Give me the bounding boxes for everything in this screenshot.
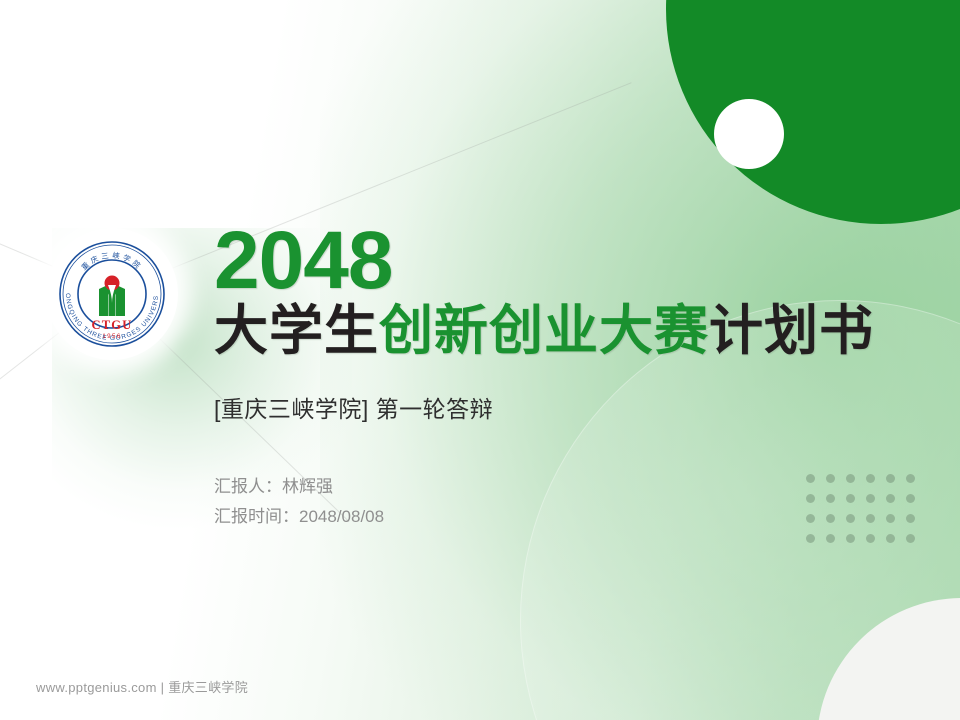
year-heading: 2048 [214, 222, 914, 300]
main-title-tail: 计划书 [709, 301, 874, 361]
main-title-lead: 大学生 [214, 301, 379, 361]
decorative-white-dot [714, 99, 784, 169]
presenter-name: 汇报人：林辉强 [214, 472, 914, 502]
presenter-info: 汇报人：林辉强 汇报时间：2048/08/08 [214, 472, 914, 532]
svg-text:1956: 1956 [102, 333, 121, 340]
svg-text:CTGU: CTGU [92, 318, 133, 332]
main-title-emphasis: 创新创业大赛 [379, 301, 709, 361]
title-block: 2048 大学生创新创业大赛计划书 [重庆三峡学院] 第一轮答辩 汇报人：林辉强… [214, 222, 914, 532]
main-title: 大学生创新创业大赛计划书 [214, 302, 914, 360]
decorative-white-circle [817, 598, 960, 720]
presentation-date: 汇报时间：2048/08/08 [214, 502, 914, 532]
presentation-slide: CHONGQING THREE GORGES UNIVERSITY 重庆三峡学院… [0, 0, 960, 720]
slide-footer: www.pptgenius.com | 重庆三峡学院 [36, 677, 248, 696]
subtitle: [重庆三峡学院] 第一轮答辩 [214, 390, 914, 424]
decorative-green-circle [666, 0, 960, 224]
university-logo: CHONGQING THREE GORGES UNIVERSITY 重庆三峡学院… [46, 228, 178, 360]
